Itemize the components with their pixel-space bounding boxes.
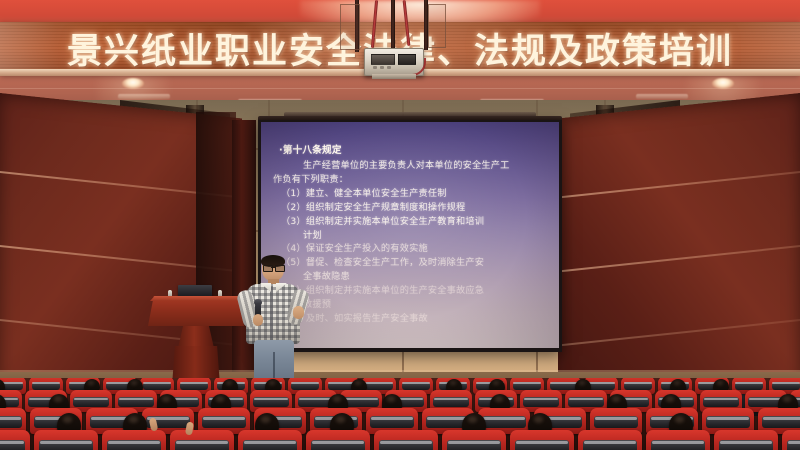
slide-line: 生产经营单位的主要负责人对本单位的安全生产工 <box>303 159 547 173</box>
seat-highlight <box>32 382 59 384</box>
panel-groove-r1 <box>558 170 800 198</box>
seat-highlight <box>176 441 227 444</box>
seat-highlight <box>513 382 540 384</box>
slide-heading: ·第十八条规定 <box>279 144 547 159</box>
slide-line: 作负有下列职责： <box>273 173 547 187</box>
seat-highlight <box>652 441 703 444</box>
slide-line: （7）及时、如实报告生产安全事故 <box>281 312 547 326</box>
seat-highlight <box>291 382 318 384</box>
rig-frame-right <box>428 4 446 48</box>
head-highlight <box>783 396 791 401</box>
head-highlight <box>63 416 73 422</box>
audience-seat <box>578 430 642 450</box>
seat-highlight <box>550 382 577 384</box>
seat-highlight <box>0 417 21 420</box>
audience-seat <box>510 430 574 450</box>
lectern-edge <box>150 296 242 301</box>
seat-highlight <box>344 398 378 400</box>
seat-highlight <box>108 441 159 444</box>
head-highlight <box>129 416 139 422</box>
slide-line: （2）组织制定安全生产规章制度和操作规程 <box>281 201 547 215</box>
audience-seat <box>238 430 302 450</box>
seat-highlight <box>371 417 413 420</box>
seat-highlight <box>365 382 392 384</box>
seat-highlight <box>720 441 771 444</box>
ceiling-vent-right <box>636 94 688 99</box>
rig-frame-left <box>340 4 360 50</box>
head-highlight <box>675 416 685 422</box>
slide-line: 计划 <box>303 229 547 243</box>
head-highlight <box>336 416 346 422</box>
slide-line: （3）组织制定并实施本单位安全生产教育和培训 <box>281 215 547 229</box>
glasses-icon <box>263 265 283 270</box>
seat-highlight <box>595 417 637 420</box>
head-highlight <box>450 381 456 385</box>
seat-highlight <box>763 417 800 420</box>
head-highlight <box>269 381 275 385</box>
audience-seat <box>374 430 438 450</box>
seat-highlight <box>516 441 567 444</box>
slide-line: （1）建立、健全本单位安全生产责任制 <box>281 187 547 201</box>
head-highlight <box>674 381 680 385</box>
slide-line: 全事故隐患 <box>303 270 547 284</box>
spotlight-left <box>122 78 144 89</box>
seat-highlight <box>483 417 525 420</box>
seat-highlight <box>788 441 800 444</box>
head-highlight <box>495 396 503 401</box>
lectern-neck <box>178 326 214 348</box>
panel-groove-r2 <box>558 244 800 272</box>
spotlight-right <box>712 78 734 89</box>
audience-seat <box>782 430 800 450</box>
audience-seat <box>0 430 30 450</box>
head-highlight <box>493 381 499 385</box>
head-highlight <box>468 416 478 422</box>
lectern <box>148 296 244 386</box>
head-highlight <box>88 381 94 385</box>
seat-highlight <box>254 398 288 400</box>
seat-highlight <box>402 382 429 384</box>
seat-highlight <box>180 382 207 384</box>
seat-highlight <box>312 441 363 444</box>
seat-highlight <box>587 382 614 384</box>
head-highlight <box>355 381 361 385</box>
seat-highlight <box>143 382 170 384</box>
audience-seat <box>442 430 506 450</box>
head-highlight <box>387 396 395 401</box>
head-highlight <box>226 381 232 385</box>
projector-button-3 <box>387 66 391 69</box>
slide-line: 救援预 <box>303 298 547 312</box>
projector-display-panel <box>371 54 395 65</box>
slide-line: （4）保证安全生产投入的有效实施 <box>281 242 547 256</box>
seat-highlight <box>380 441 431 444</box>
slide-line: （6）组织制定并实施本单位的生产安全事故应急 <box>281 284 547 298</box>
seat-highlight <box>40 441 91 444</box>
projector-button-1 <box>373 66 377 69</box>
seat-highlight <box>569 398 603 400</box>
seat-highlight <box>524 398 558 400</box>
head-highlight <box>666 396 674 401</box>
panel-groove-r3 <box>558 318 800 346</box>
head-highlight <box>579 381 585 385</box>
shirt-placket <box>270 286 273 342</box>
audience <box>0 378 800 450</box>
presenter <box>236 256 314 392</box>
head-highlight <box>216 396 224 401</box>
audience-seat <box>102 430 166 450</box>
seat-highlight <box>707 417 749 420</box>
glasses-lens-right <box>275 265 285 272</box>
head-highlight <box>612 396 620 401</box>
presenter-hand-right <box>293 306 304 319</box>
seat-highlight <box>119 398 153 400</box>
projector-button-2 <box>380 66 384 69</box>
auditorium-photo: 景兴纸业职业安全法律、法规及政策培训 <box>0 0 800 450</box>
seat-highlight <box>434 398 468 400</box>
head-highlight <box>717 381 723 385</box>
rig-pole-center <box>391 0 395 50</box>
seat-highlight <box>448 441 499 444</box>
audience-seat <box>306 430 370 450</box>
head-highlight <box>534 416 544 422</box>
seat-highlight <box>0 441 24 444</box>
seat-highlight <box>704 398 738 400</box>
seat-highlight <box>735 382 762 384</box>
head-highlight <box>162 396 170 401</box>
seat-highlight <box>624 382 651 384</box>
audience-seat <box>714 430 778 450</box>
head-highlight <box>261 416 271 422</box>
audience-seat <box>170 430 234 450</box>
audience-seat <box>646 430 710 450</box>
audience-seat <box>34 430 98 450</box>
seat-highlight <box>74 398 108 400</box>
seat-highlight <box>772 382 799 384</box>
seat-highlight <box>584 441 635 444</box>
presenter-hand-left <box>253 314 263 326</box>
slide-body: 生产经营单位的主要负责人对本单位的安全生产工作负有下列职责：（1）建立、健全本单… <box>273 159 547 327</box>
head-highlight <box>131 381 137 385</box>
seat-highlight <box>203 417 245 420</box>
head-highlight <box>333 396 341 401</box>
slide-line: （5）督促、检查安全生产工作，及时消除生产安 <box>281 256 547 270</box>
head-highlight <box>54 396 62 401</box>
projector-stand-shelf <box>372 74 416 79</box>
seat-highlight <box>244 441 295 444</box>
